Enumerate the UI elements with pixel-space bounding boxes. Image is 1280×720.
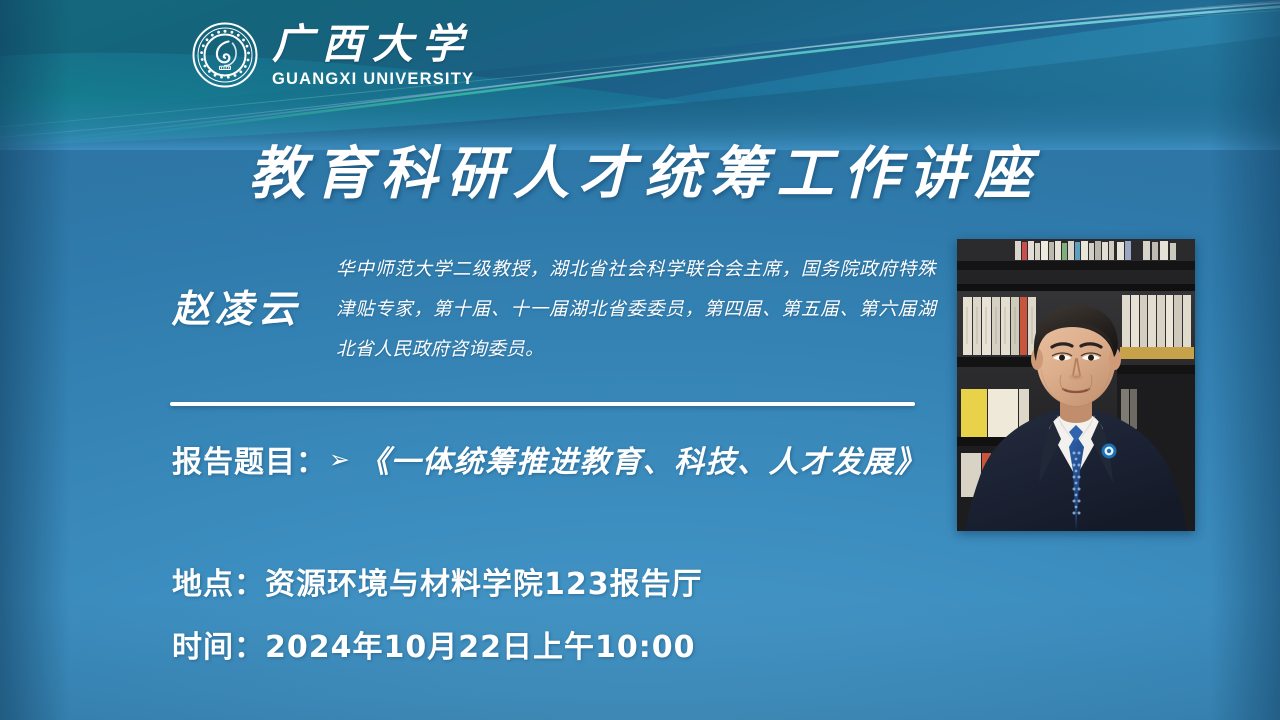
speaker-portrait-photo xyxy=(957,239,1195,531)
logo-name-en: GUANGXI UNIVERSITY xyxy=(272,71,474,88)
guangxi-university-seal-icon xyxy=(192,22,258,88)
speaker-name: 赵凌云 xyxy=(172,278,301,333)
time-line: 时间：2024年10月22日上午10:00 xyxy=(172,622,696,666)
logo-name-cn: 广西大学 xyxy=(272,24,472,65)
arrow-bullet-icon: ➢ xyxy=(329,448,350,473)
report-topic-line: 报告题目： ➢ 《一体统筹推进教育、科技、人才发展》 xyxy=(172,437,926,481)
venue-line: 地点：资源环境与材料学院123报告厅 xyxy=(172,559,703,603)
speaker-bio: 华中师范大学二级教授，湖北省社会科学联合会主席，国务院政府特殊津贴专家，第十届、… xyxy=(336,250,936,370)
logo-wordmark: 广西大学 GUANGXI UNIVERSITY xyxy=(272,22,474,88)
report-topic-value: 《一体统筹推进教育、科技、人才发展》 xyxy=(359,437,926,481)
poster-main-title: 教育科研人才统筹工作讲座 xyxy=(0,128,1280,210)
report-topic-label: 报告题目： xyxy=(172,437,327,481)
lecture-poster-slide: 广西大学 GUANGXI UNIVERSITY 教育科研人才统筹工作讲座 赵凌云… xyxy=(0,0,1280,720)
university-logo: 广西大学 GUANGXI UNIVERSITY xyxy=(192,22,474,88)
section-divider xyxy=(170,402,915,406)
